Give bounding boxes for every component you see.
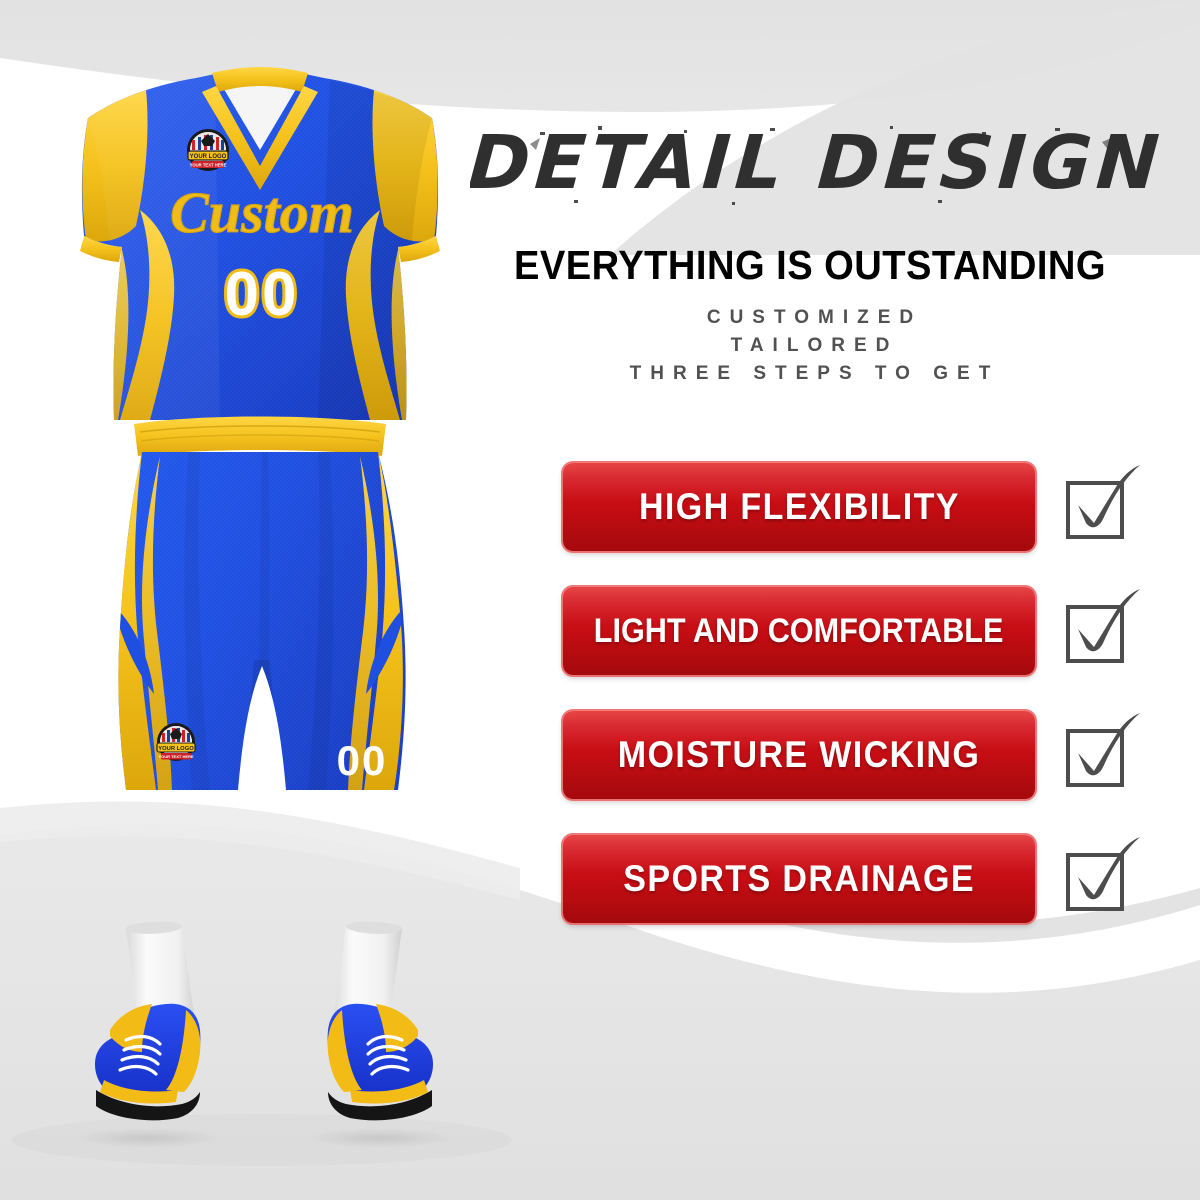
jersey: YOUR LOGO YOUR TEXT HERE Custom 00 <box>70 60 450 440</box>
jersey-logo-subtext: YOUR TEXT HERE <box>190 163 227 168</box>
checkbox-checked-icon[interactable] <box>1060 589 1146 673</box>
shoe-left <box>74 922 222 1148</box>
feature-banner-light-and-comfortable[interactable]: LIGHT AND COMFORTABLE <box>563 587 1035 675</box>
page-title-text: DETAIL DESIGN <box>470 120 1167 206</box>
headline: EVERYTHING IS OUTSTANDING <box>480 243 1140 287</box>
feature-label: LIGHT AND COMFORTABLE <box>594 612 1004 651</box>
product-showcase: YOUR LOGO YOUR TEXT HERE Custom 00 <box>0 0 520 1200</box>
jersey-logo-text: YOUR LOGO <box>190 154 227 160</box>
jersey-logo-badge: YOUR LOGO YOUR TEXT HERE <box>187 129 229 171</box>
feature-label: HIGH FLEXIBILITY <box>639 486 960 528</box>
subheadline-line-2: TAILORED <box>455 332 1165 360</box>
feature-label: MOISTURE WICKING <box>618 734 980 776</box>
feature-banner-high-flexibility[interactable]: HIGH FLEXIBILITY <box>563 463 1035 551</box>
shoe-right <box>306 922 454 1148</box>
product-detail-banner: YOUR LOGO YOUR TEXT HERE Custom 00 <box>0 0 1200 1200</box>
feature-row: SPORTS DRAINAGE <box>455 827 1200 951</box>
subheadline-line-3: THREE STEPS TO GET <box>455 360 1165 388</box>
feature-list: HIGH FLEXIBILITY LIGHT AND COMFORTABLE <box>455 455 1200 951</box>
subheadline-block: CUSTOMIZED TAILORED THREE STEPS TO GET <box>455 304 1165 388</box>
shorts-logo-text: YOUR LOGO <box>158 746 194 752</box>
checkbox-checked-icon[interactable] <box>1060 465 1146 549</box>
subheadline-line-1: CUSTOMIZED <box>455 304 1165 332</box>
feature-banner-moisture-wicking[interactable]: MOISTURE WICKING <box>563 711 1035 799</box>
shorts: YOUR LOGO YOUR TEXT HERE 00 <box>110 417 410 821</box>
page-title: DETAIL DESIGN <box>470 108 1170 213</box>
jersey-team-name: Custom <box>170 180 354 245</box>
uniform-illustration: YOUR LOGO YOUR TEXT HERE Custom 00 <box>0 0 520 1200</box>
feature-label: SPORTS DRAINAGE <box>623 858 975 900</box>
shorts-logo-subtext: YOUR TEXT HERE <box>158 754 193 759</box>
feature-row: MOISTURE WICKING <box>455 703 1200 827</box>
shorts-number: 00 <box>337 737 388 784</box>
checkbox-checked-icon[interactable] <box>1060 837 1146 921</box>
feature-banner-sports-drainage[interactable]: SPORTS DRAINAGE <box>563 835 1035 923</box>
feature-row: LIGHT AND COMFORTABLE <box>455 579 1200 703</box>
checkbox-checked-icon[interactable] <box>1060 713 1146 797</box>
jersey-number: 00 <box>225 260 300 329</box>
marketing-panel: DETAIL DESIGN <box>455 0 1200 1200</box>
feature-row: HIGH FLEXIBILITY <box>455 455 1200 579</box>
shorts-logo-badge: YOUR LOGO YOUR TEXT HERE <box>157 723 195 761</box>
